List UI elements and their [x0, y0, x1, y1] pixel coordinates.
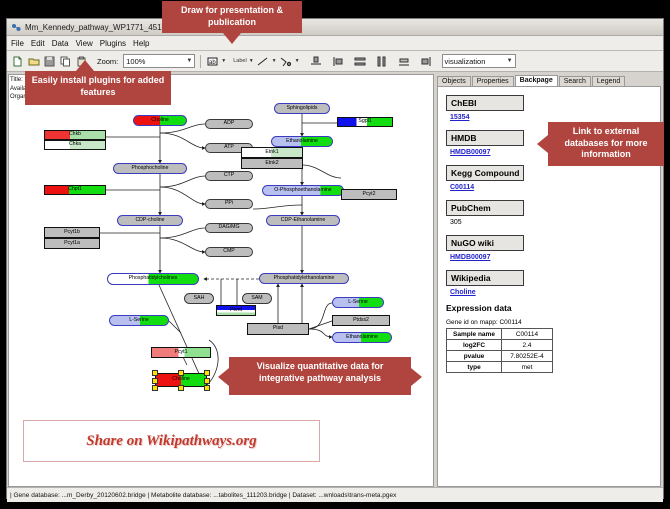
pathway-node-ptdss2[interactable]: Ptdss2 [332, 315, 390, 326]
status-bar: | Gene database: ...m_Derby_20120602.bri… [7, 487, 663, 502]
pathway-node-ctp[interactable]: CTP [205, 171, 253, 181]
menu-item-edit[interactable]: Edit [31, 39, 45, 48]
arrow-connector-icon[interactable] [280, 55, 293, 68]
pathway-node-cmp[interactable]: CMP [205, 247, 253, 257]
pathway-node-etnk1[interactable]: Etnk1 [241, 147, 303, 158]
pathway-node-pcyt1[interactable]: Pcyt1 [151, 347, 211, 358]
callout-plugins-arrow [76, 60, 94, 71]
pathway-node-ppi[interactable]: PPi [205, 199, 253, 209]
stack-icon[interactable] [398, 55, 411, 68]
selection-handle-ml[interactable] [152, 378, 158, 384]
pathway-node-ethanolamine[interactable]: Ethanolamine [271, 136, 333, 147]
db-value-pubchem: 305 [450, 219, 652, 226]
pathway-node-pcyt2[interactable]: Pcyt2 [341, 189, 397, 200]
tab-objects[interactable]: Objects [437, 76, 471, 86]
selection-handle-bl[interactable] [152, 385, 158, 391]
callout-links-arrow [537, 135, 548, 153]
pathway-node-pcyt1a[interactable]: Pcyt1a [44, 238, 100, 249]
pathway-node-o-phosphoethanolamine[interactable]: O-Phosphoethanolamine [262, 185, 344, 196]
db-header-kegg: Kegg Compound [446, 165, 524, 181]
zoom-combo[interactable]: 100% ▼ [123, 54, 195, 68]
exp-val-log2fc: 2.4 [502, 340, 553, 351]
menu-item-help[interactable]: Help [133, 39, 149, 48]
pathway-node-ethanolamine-right[interactable]: Ethanolamine [332, 332, 392, 343]
distribute-horizontal-icon[interactable] [376, 55, 389, 68]
callout-draw: Draw for presentation & publication [162, 1, 302, 33]
text-box-icon[interactable]: ab [206, 55, 219, 68]
menu-bar: File Edit Data View Plugins Help [7, 36, 663, 51]
db-header-pubchem: PubChem [446, 200, 524, 216]
expression-table: Sample name C00114 log2FC 2.4 pvalue 7.8… [446, 328, 553, 373]
menu-item-file[interactable]: File [11, 39, 24, 48]
pathway-node-adp[interactable]: ADP [205, 119, 253, 129]
pathway-node-chpt1[interactable]: Chpt1 [44, 185, 106, 195]
db-header-wikipedia: Wikipedia [446, 270, 524, 286]
pathway-node-dag-mg[interactable]: DAG/MG [205, 223, 253, 233]
callout-draw-arrow [223, 33, 241, 44]
title-bar: Mm_Kennedy_pathway_WP1771_45176.gpml [7, 19, 663, 36]
callout-visualize-arrow-left [218, 368, 229, 386]
db-header-chebi: ChEBI [446, 95, 524, 111]
toolbar-separator [200, 55, 201, 68]
chevron-down-icon[interactable]: ▼ [249, 58, 254, 64]
visualization-value: visualization [445, 57, 486, 66]
db-link-nugo-wiki[interactable]: HMDB00097 [450, 254, 652, 261]
selection-handle-br[interactable] [204, 385, 210, 391]
callout-visualize: Visualize quantitative data for integrat… [229, 357, 411, 395]
pathway-node-cdp-ethanolamine[interactable]: CDP-Ethanolamine [266, 215, 340, 226]
status-text: | Gene database: ...m_Derby_20120602.bri… [10, 492, 396, 499]
db-header-nugo-wiki: NuGO wiki [446, 235, 524, 251]
callout-share: Share on Wikipathways.org [23, 420, 320, 462]
tab-backpage[interactable]: Backpage [515, 75, 558, 86]
pathway-node-phosphatidylcholines[interactable]: Phosphatidylcholines [107, 273, 199, 285]
pathvisio-icon [11, 22, 21, 32]
pathway-node-chka[interactable]: Chka [44, 140, 106, 150]
exp-key-pvalue: pvalue [447, 351, 502, 362]
tab-legend[interactable]: Legend [592, 76, 625, 86]
callout-plugins: Easily install plugins for added feature… [25, 71, 171, 105]
copy-icon[interactable] [59, 55, 72, 68]
pathway-node-chkb[interactable]: Chkb [44, 130, 106, 140]
db-link-wikipedia[interactable]: Choline [450, 289, 652, 296]
exp-val-pvalue: 7.80252E-4 [502, 351, 553, 362]
chevron-down-icon: ▼ [507, 58, 513, 64]
table-row: log2FC 2.4 [447, 340, 553, 351]
zoom-label: Zoom: [97, 57, 118, 66]
toolbar: Zoom: 100% ▼ ab ▼ Label ▼ ▼ ▼ v [7, 51, 663, 72]
expression-data-title: Expression data [446, 303, 652, 313]
side-panel-tabs: Objects Properties Backpage Search Legen… [437, 74, 661, 86]
open-folder-icon[interactable] [27, 55, 40, 68]
pathway-node-pisd[interactable]: Pisd [247, 323, 309, 335]
chevron-down-icon: ▼ [186, 58, 192, 64]
db-link-chebi[interactable]: 15354 [450, 114, 652, 121]
selection-handle-mr[interactable] [204, 378, 210, 384]
svg-text:ab: ab [209, 60, 216, 66]
save-icon[interactable] [43, 55, 56, 68]
db-header-hmdb: HMDB [446, 130, 524, 146]
pathway-node-pcyt1b[interactable]: Pcyt1b [44, 227, 100, 238]
pathway-node-l-serine-left[interactable]: L-Serine [109, 315, 169, 326]
callout-links: Link to external databases for more info… [548, 122, 664, 166]
pathway-node-cdp-choline[interactable]: CDP-choline [117, 215, 183, 226]
selection-handle-tc[interactable] [178, 370, 184, 376]
pathway-node-sam[interactable]: SAM [242, 293, 272, 304]
pathway-node-sgpl1[interactable]: Sgpl1 [337, 117, 393, 127]
label-button[interactable]: Label [233, 58, 246, 64]
tab-properties[interactable]: Properties [472, 76, 514, 86]
table-row: Sample name C00114 [447, 329, 553, 340]
pathway-node-sphingolipids[interactable]: Sphingolipids [274, 103, 330, 114]
pathway-node-pemt[interactable]: Pemt [216, 305, 256, 316]
align-left-icon[interactable] [332, 55, 345, 68]
exp-val-sample-name: C00114 [502, 329, 553, 340]
pathway-node-l-serine-right[interactable]: L-Serine [332, 297, 384, 308]
exp-key-type: type [447, 362, 502, 373]
pathway-node-phosphatidylethanolamine[interactable]: Phosphatidylethanolamine [259, 273, 349, 284]
table-row: type met [447, 362, 553, 373]
selection-handle-tl[interactable] [152, 370, 158, 376]
chevron-down-icon[interactable]: ▼ [295, 58, 300, 64]
tab-search[interactable]: Search [559, 76, 591, 86]
exp-key-sample-name: Sample name [447, 329, 502, 340]
chevron-down-icon[interactable]: ▼ [221, 58, 226, 64]
align-top-icon[interactable] [310, 55, 323, 68]
distribute-vertical-icon[interactable] [354, 55, 367, 68]
chevron-down-icon[interactable]: ▼ [272, 58, 277, 64]
menu-item-view[interactable]: View [76, 39, 93, 48]
selection-handle-tr[interactable] [204, 370, 210, 376]
selection-handle-bc[interactable] [178, 385, 184, 391]
pathway-node-etnk2[interactable]: Etnk2 [241, 158, 303, 169]
pathway-node-choline[interactable]: Choline [133, 115, 187, 126]
align-right-icon[interactable] [420, 55, 433, 68]
exp-key-log2fc: log2FC [447, 340, 502, 351]
new-file-icon[interactable] [11, 55, 24, 68]
callout-visualize-arrow-right [411, 368, 422, 386]
menu-item-data[interactable]: Data [52, 39, 69, 48]
db-link-kegg[interactable]: C00114 [450, 184, 652, 191]
pathway-node-phosphocholine[interactable]: Phosphocholine [113, 163, 187, 174]
pathway-canvas[interactable]: Title: Availa Organ [8, 74, 434, 487]
visualization-combo[interactable]: visualization ▼ [442, 54, 516, 68]
pathway-node-sah[interactable]: SAH [184, 293, 214, 304]
zoom-value: 100% [126, 57, 145, 66]
line-icon[interactable] [257, 55, 270, 68]
menu-item-plugins[interactable]: Plugins [100, 39, 126, 48]
gene-id-on-mapp: Gene id on mapp: C00114 [446, 319, 652, 326]
exp-val-type: met [502, 362, 553, 373]
table-row: pvalue 7.80252E-4 [447, 351, 553, 362]
